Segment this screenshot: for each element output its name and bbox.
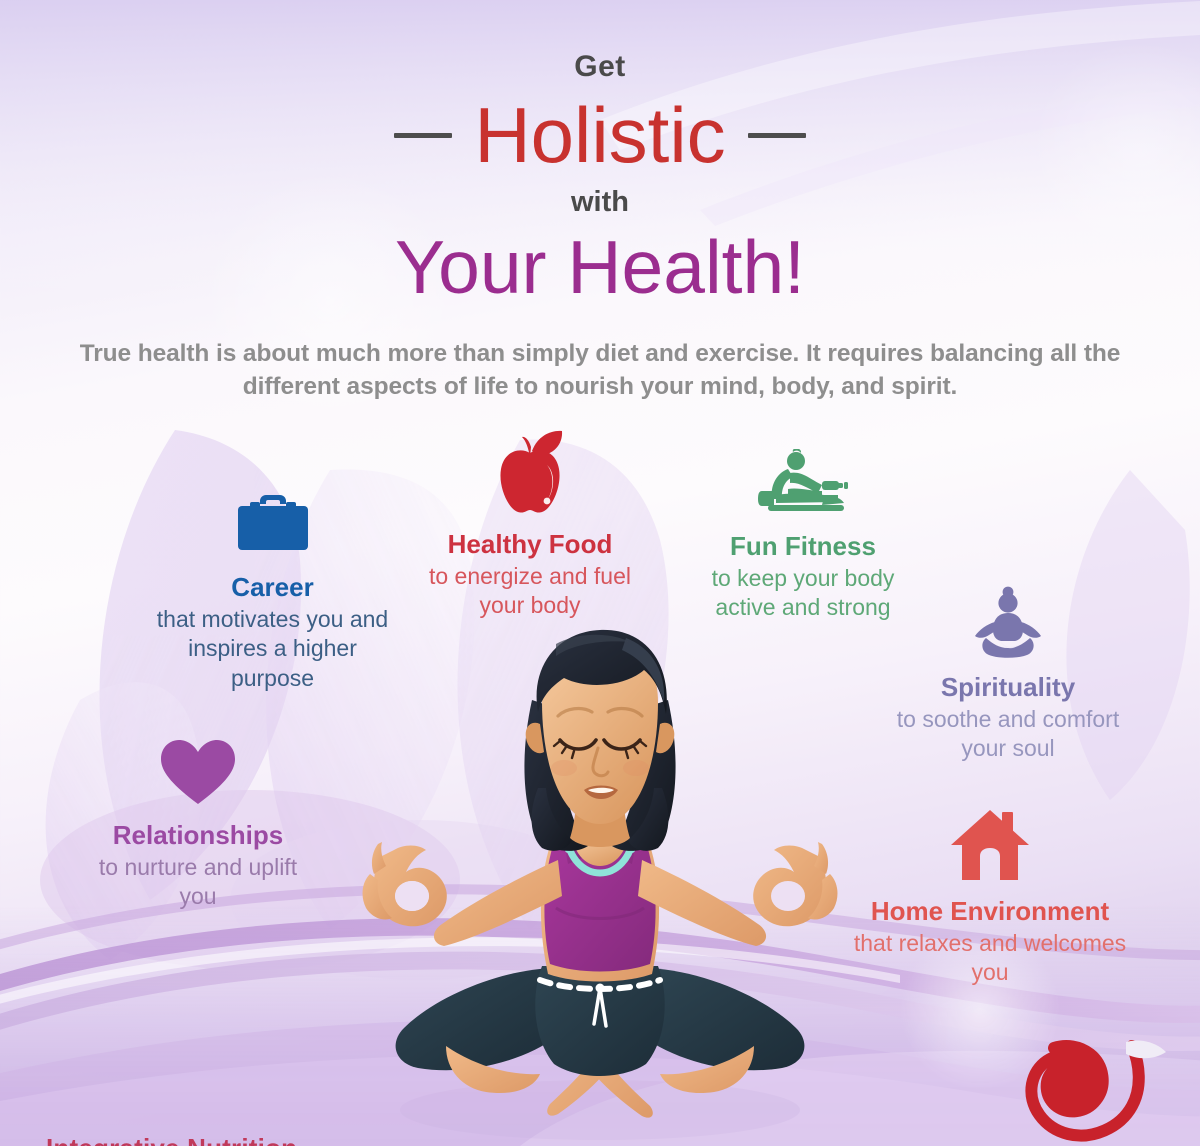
meditation-lotus-icon xyxy=(886,586,1130,665)
pillar-title: Home Environment xyxy=(845,897,1135,927)
headline-holistic-row: Holistic xyxy=(0,96,1200,174)
pillar-title: Career xyxy=(155,573,390,603)
house-icon xyxy=(845,808,1135,889)
pillar-title: Spirituality xyxy=(886,673,1130,703)
headline-connector: with xyxy=(0,186,1200,219)
pillar-title: Fun Fitness xyxy=(683,532,923,562)
meditating-woman-illustration xyxy=(326,628,874,1146)
pillar-description: to nurture and uplift you xyxy=(82,853,314,912)
briefcase-icon xyxy=(155,490,390,565)
bottom-caption: Integrative Nutrition xyxy=(46,1133,297,1146)
dash-left-icon xyxy=(394,133,452,138)
apple-icon xyxy=(410,427,650,522)
headline-eyebrow: Get xyxy=(0,50,1200,84)
headline-secondary: Your Health! xyxy=(0,228,1200,307)
red-spiral-logo xyxy=(1014,1038,1182,1146)
dash-right-icon xyxy=(748,133,806,138)
pillar-spirituality[interactable]: Spirituality to soothe and comfort your … xyxy=(886,586,1130,764)
pillar-description: to energize and fuel your body xyxy=(410,562,650,621)
pillar-description: that relaxes and welcomes you xyxy=(845,929,1135,988)
page-subtitle: True health is about much more than simp… xyxy=(70,337,1130,404)
heart-icon xyxy=(82,738,314,813)
pillar-relationships[interactable]: Relationships to nurture and uplift you xyxy=(82,738,314,912)
headline-primary: Holistic xyxy=(474,96,725,174)
pillar-description: to soothe and comfort your soul xyxy=(886,705,1130,764)
rowing-exercise-icon xyxy=(683,449,923,524)
pillar-title: Relationships xyxy=(82,821,314,851)
pillar-title: Healthy Food xyxy=(410,530,650,560)
pillar-healthy-food[interactable]: Healthy Food to energize and fuel your b… xyxy=(410,427,650,621)
pillar-home-environment[interactable]: Home Environment that relaxes and welcom… xyxy=(845,808,1135,988)
